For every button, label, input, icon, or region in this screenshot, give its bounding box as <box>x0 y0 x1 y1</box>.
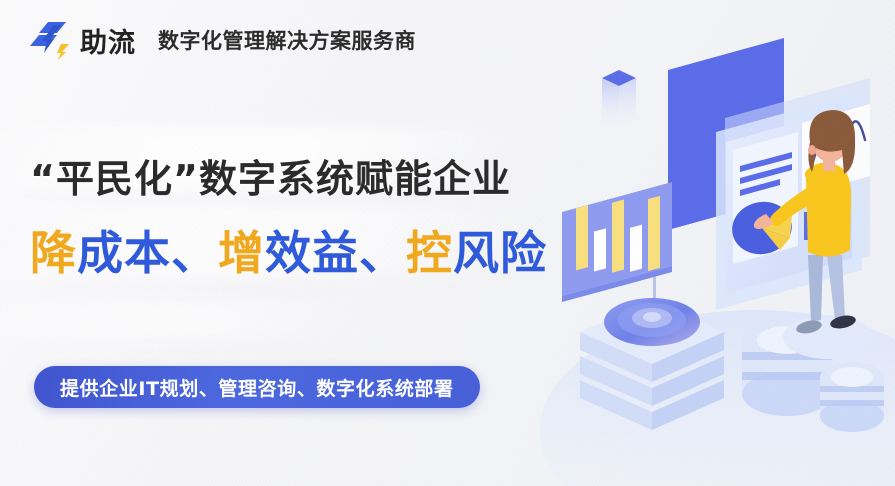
bar <box>630 225 642 272</box>
lightning-bolt-logo-icon <box>30 20 74 60</box>
bar <box>648 196 660 271</box>
headline-secondary: 降成本、增效益、控风险 <box>30 217 547 283</box>
headline-part-6: 、 <box>359 226 406 280</box>
headline-part-3: 、 <box>171 226 218 280</box>
cta-button[interactable]: 提供企业IT规划、管理咨询、数字化系统部署 <box>34 366 480 408</box>
headline-part-2: 成本 <box>77 226 171 280</box>
figure-leg <box>808 255 823 322</box>
figure-platform <box>783 315 873 359</box>
brand-name: 助流 <box>80 21 136 60</box>
headline-part-1: 降 <box>30 226 77 280</box>
database-cylinders-small <box>820 362 884 432</box>
headline-part-8: 风险 <box>453 226 547 280</box>
figure-torso <box>805 162 851 256</box>
floating-cube-icon <box>602 70 636 130</box>
headline-part-7: 控 <box>406 226 453 280</box>
brand-tagline: 数字化管理解决方案服务商 <box>158 25 416 55</box>
bar <box>576 205 588 270</box>
bar <box>612 199 624 272</box>
headline-part-5: 效益 <box>265 226 359 280</box>
headline-primary: “平民化”数字系统赋能企业 <box>30 148 511 203</box>
figure-leg <box>827 255 845 320</box>
business-analytics-illustration <box>540 0 895 486</box>
light-streak <box>0 300 396 340</box>
promo-banner: 助流 数字化管理解决方案服务商 “平民化”数字系统赋能企业 降成本、增效益、控风… <box>0 0 895 486</box>
brand-header: 助流 数字化管理解决方案服务商 <box>30 20 416 60</box>
headline-part-4: 增 <box>218 226 265 280</box>
bar <box>594 228 606 271</box>
